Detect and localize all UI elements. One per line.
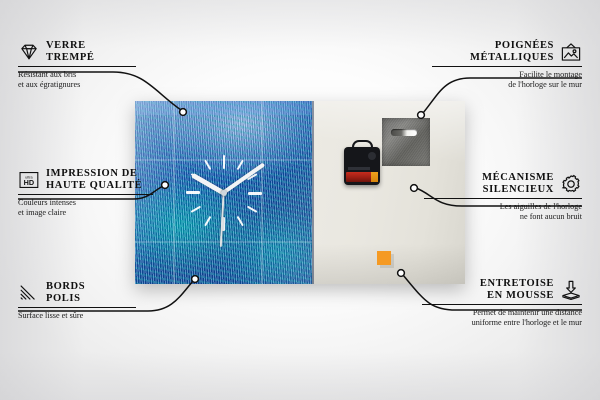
quartz-mechanism [344,147,380,185]
callout-subtitle-line2: et image claire [18,208,153,218]
callout-subtitle-line2: et aux égratignures [18,80,136,90]
callout-subtitle-line1: Les aiguilles de l'horloge [424,202,582,212]
clock-hand-cap [221,190,227,196]
callout-verre-trempe: VERRE TREMPÉ Résistant aux bris et aux é… [18,40,136,90]
mechanism-knob [368,152,376,160]
callout-title: ENTRETOISE EN MOUSSE [480,278,554,301]
panel-edge [312,101,314,284]
callout-subtitle-line1: Résistant aux bris [18,70,136,80]
plate-keyhole-slot [391,129,417,136]
metal-hanging-plate [382,118,430,166]
callout-header: ENTRETOISE EN MOUSSE [422,278,582,301]
callout-bords-polis: BORDS POLIS Surface lisse et sûre [18,281,136,321]
arrow-down-pad-icon [560,279,582,301]
plate-texture [382,118,430,166]
clock-face [135,101,312,284]
infographic-canvas: VERRE TREMPÉ Résistant aux bris et aux é… [0,0,600,400]
mechanism-label [348,167,370,170]
callout-subtitle-line2: ne font aucun bruit [424,212,582,222]
callout-header: POIGNÉES MÉTALLIQUES [432,40,582,63]
callout-title: MÉCANISME SILENCIEUX [482,172,554,195]
ultra-hd-icon: ultra HD [18,169,40,191]
callout-divider [432,66,582,67]
diamond-icon [18,41,40,63]
callout-header: MÉCANISME SILENCIEUX [424,172,582,195]
callout-subtitle-line1: Permet de maintenir une distance [422,308,582,318]
callout-subtitle-line2: uniforme entre l'horloge et le mur [422,318,582,328]
callout-divider [18,307,136,308]
callout-divider [424,198,582,199]
callout-subtitle-line1: Surface lisse et sûre [18,311,136,321]
callout-subtitle-line2: de l'horloge sur le mur [432,80,582,90]
polished-edge-icon [18,282,40,304]
callout-title: VERRE TREMPÉ [46,40,95,63]
callout-title: POIGNÉES MÉTALLIQUES [470,40,554,63]
callout-subtitle-line1: Facilite le montage [432,70,582,80]
battery [346,172,377,182]
svg-text:HD: HD [24,178,34,187]
callout-header: BORDS POLIS [18,281,136,304]
callout-header: ultra HD IMPRESSION DE HAUTE QUALITÉ [18,168,153,191]
callout-subtitle-line1: Couleurs intenses [18,198,153,208]
callout-impression-haute-qualite: ultra HD IMPRESSION DE HAUTE QUALITÉ Cou… [18,168,153,218]
callout-poignees-metalliques: POIGNÉES MÉTALLIQUES Facilite le montage… [432,40,582,90]
picture-frame-icon [560,41,582,63]
callout-mecanisme-silencieux: MÉCANISME SILENCIEUX Les aiguilles de l'… [424,172,582,222]
callout-title: BORDS POLIS [46,281,85,304]
callout-divider [18,66,136,67]
callout-divider [18,194,153,195]
product-image [135,101,465,284]
mechanism-hook [352,140,373,152]
foam-spacer [377,251,391,265]
gear-icon [560,173,582,195]
callout-entretoise-en-mousse: ENTRETOISE EN MOUSSE Permet de maintenir… [422,278,582,328]
callout-header: VERRE TREMPÉ [18,40,136,63]
callout-divider [422,304,582,305]
callout-title: IMPRESSION DE HAUTE QUALITÉ [46,168,142,191]
